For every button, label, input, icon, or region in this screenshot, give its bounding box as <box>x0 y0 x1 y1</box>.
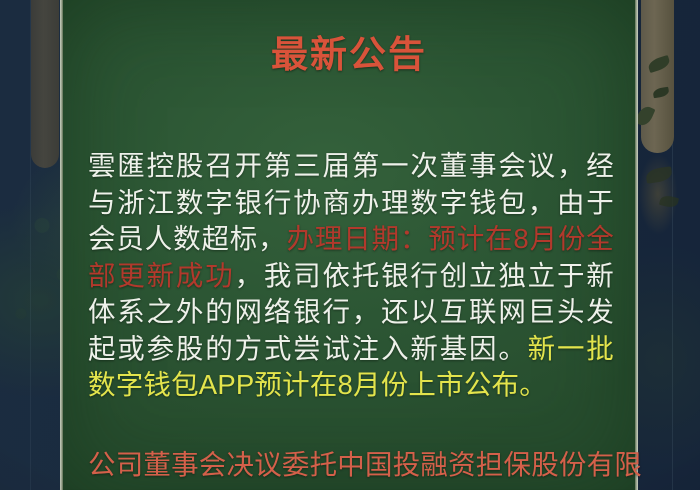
announcement-screenshot: 最新公告 雲匯控股召开第三届第一次董事会议，经与浙江数字银行协商办理数字钱包，由… <box>0 0 700 490</box>
announcement-title: 最新公告 <box>60 24 638 78</box>
announcement-content: 最新公告 雲匯控股召开第三届第一次董事会议，经与浙江数字银行协商办理数字钱包，由… <box>60 0 638 490</box>
announcement-footer-line: 公司董事会决议委托中国投融资担保股份有限 <box>88 447 614 484</box>
left-pillar <box>31 0 59 168</box>
right-pillar <box>641 0 674 153</box>
green-board-panel: 最新公告 雲匯控股召开第三届第一次董事会议，经与浙江数字银行协商办理数字钱包，由… <box>60 0 638 490</box>
announcement-paragraph: 雲匯控股召开第三届第一次董事会议，经与浙江数字银行协商办理数字钱包，由于会员人数… <box>88 148 614 404</box>
announcement-body: 雲匯控股召开第三届第一次董事会议，经与浙江数字银行协商办理数字钱包，由于会员人数… <box>88 148 614 404</box>
